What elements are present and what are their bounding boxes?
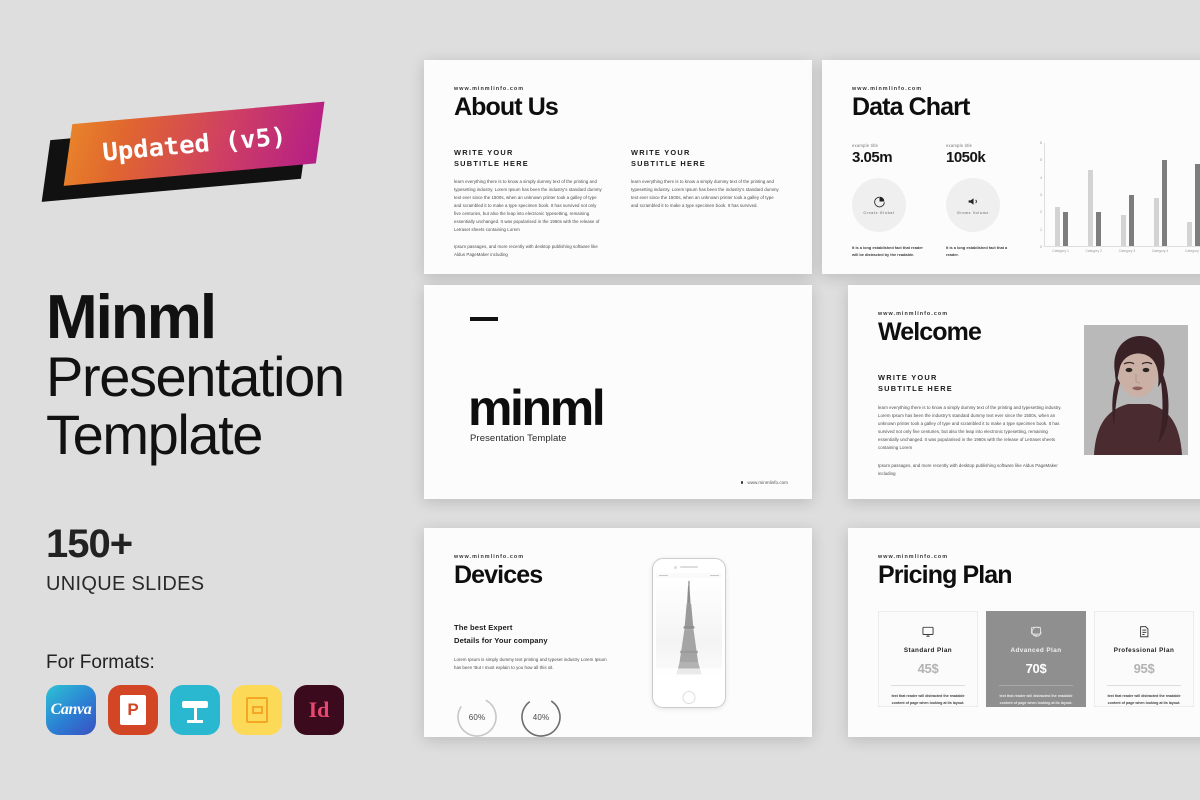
slide-title: About Us	[454, 94, 782, 121]
plan-price: 70$	[1026, 661, 1047, 676]
bar	[1129, 195, 1135, 247]
stat-value: 3.05m	[852, 149, 924, 166]
pricing-card-standard[interactable]: Standard Plan 45$ text that reader will …	[878, 611, 978, 707]
body-paragraph-tail: Ipsum passages, and more recently with d…	[454, 243, 604, 259]
logo-subtitle: Presentation Template	[470, 433, 566, 444]
chat-icon	[1029, 625, 1043, 638]
plan-name: Advanced Plan	[1011, 647, 1062, 654]
dash-accent	[470, 317, 498, 321]
title-line-2: Presentation	[46, 348, 426, 406]
phone-mockup	[652, 558, 726, 708]
pricing-card-advanced[interactable]: Advanced Plan 70$ text that reader will …	[986, 611, 1086, 707]
slide-title: Devices	[454, 562, 634, 589]
stat-card-1: example title 3.05m Create Global It is …	[852, 143, 924, 263]
divider	[999, 685, 1073, 686]
chart-x-tick: Category 2	[1085, 249, 1102, 253]
chart-y-tick: 1	[1040, 228, 1042, 232]
phone-camera	[674, 566, 677, 569]
badge-label: Updated (v5)	[101, 121, 287, 166]
portrait-photo	[1084, 325, 1188, 455]
donut-label: 60%	[469, 713, 486, 722]
slide-title-minml[interactable]: minml Presentation Template www.minmlinf…	[424, 285, 812, 499]
stat-icon-circle: Grows Volume	[946, 178, 1000, 232]
subtitle-heading: WRITE YOUR SUBTITLE HERE	[631, 147, 781, 169]
donut-chart-60: 60%	[454, 694, 500, 737]
phone-screen	[656, 573, 722, 690]
phone-speaker	[680, 566, 698, 568]
about-column-right: WRITE YOUR SUBTITLE HERE learn everythin…	[631, 147, 781, 260]
bar-group	[1088, 143, 1102, 246]
pricing-card-group: Standard Plan 45$ text that reader will …	[878, 611, 1200, 707]
bar-group	[1055, 143, 1069, 246]
left-info-panel: Updated (v5) Minml Presentation Template…	[46, 0, 426, 800]
slides-icon	[246, 697, 268, 723]
stat-icon-circle: Create Global	[852, 178, 906, 232]
slide-welcome[interactable]: www.minmlinfo.com Welcome WRITE YOUR SUB…	[848, 285, 1200, 499]
chart-y-tick: 3	[1040, 193, 1042, 197]
google-slides-icon	[232, 685, 282, 735]
plan-name: Professional Plan	[1114, 647, 1175, 654]
updated-badge: Updated (v5)	[46, 118, 346, 228]
poster-canvas: Updated (v5) Minml Presentation Template…	[0, 0, 1200, 800]
title-line-1: Minml	[46, 288, 426, 348]
slide-url: www.minmlinfo.com	[852, 86, 1200, 92]
slide-count-stat: 150+ UNIQUE SLIDES	[46, 524, 204, 596]
chart-y-axis: 6543210	[1032, 143, 1044, 247]
stat-group: example title 3.05m Create Global It is …	[852, 143, 1018, 263]
plan-note: text that reader will distracted the rea…	[889, 693, 967, 706]
bar	[1088, 170, 1094, 246]
slide-url: www.minmlinfo.com	[454, 86, 782, 92]
bar	[1121, 215, 1127, 246]
stat-caption: example title	[946, 143, 1018, 148]
slide-title: Welcome	[878, 319, 1068, 346]
bar	[1162, 160, 1168, 246]
indesign-icon: Id	[294, 685, 344, 735]
eiffel-tower-photo	[656, 578, 722, 690]
slide-count-label: UNIQUE SLIDES	[46, 573, 204, 596]
divider	[1107, 685, 1181, 686]
chart-y-tick: 2	[1040, 210, 1042, 214]
bar-chart: 6543210 Category 1Category 2Category 3Ca…	[1032, 143, 1200, 263]
phone-home-button[interactable]	[683, 691, 696, 704]
stat-icon-label: Grows Volume	[957, 211, 989, 215]
body-paragraph: Lorem Ipsum is simply dummy text printin…	[454, 656, 614, 672]
slide-url: www.minmlinfo.com	[878, 554, 1200, 560]
subtitle-heading: WRITE YOUR SUBTITLE HERE	[878, 372, 1068, 394]
plan-note: text that reader will distracted the rea…	[997, 693, 1075, 706]
body-paragraph: learn everything there is to know a simp…	[454, 178, 604, 234]
bar-group	[1121, 143, 1135, 246]
slide-pricing-plan[interactable]: www.minmlinfo.com Pricing Plan Standard …	[848, 528, 1200, 737]
plan-price: 95$	[1134, 661, 1155, 676]
bar	[1055, 207, 1061, 246]
chart-y-tick: 4	[1040, 176, 1042, 180]
slide-url: www.minmlinfo.com	[741, 480, 788, 485]
canva-glyph: Canva	[51, 701, 92, 719]
body-paragraph: learn everything there is to know a simp…	[631, 178, 781, 210]
powerpoint-glyph: P	[127, 700, 138, 720]
bar-group	[1187, 143, 1200, 246]
stat-icon-label: Create Global	[863, 211, 894, 215]
monitor-icon	[921, 625, 935, 638]
chart-x-tick: Category 5	[1185, 249, 1200, 253]
canva-icon: Canva	[46, 685, 96, 735]
stat-value: 1050k	[946, 149, 1018, 166]
body-paragraph: learn everything there is to know a simp…	[878, 404, 1068, 452]
bar	[1187, 222, 1193, 246]
podium-icon	[182, 697, 208, 723]
chart-y-tick: 0	[1040, 245, 1042, 249]
slide-count-number: 150+	[46, 524, 204, 564]
plan-note: text that reader will distracted the rea…	[1105, 693, 1183, 706]
slide-url: www.minmlinfo.com	[454, 554, 634, 560]
donut-chart-40: 40%	[518, 694, 564, 737]
donut-label: 40%	[533, 713, 550, 722]
bar-group	[1154, 143, 1168, 246]
pie-chart-icon	[873, 195, 886, 208]
chart-x-tick: Category 1	[1052, 249, 1069, 253]
lead-heading: The best Expert Details for Your company	[454, 622, 634, 647]
keynote-icon	[170, 685, 220, 735]
slide-data-chart[interactable]: www.minmlinfo.com Data Chart example tit…	[822, 60, 1200, 274]
plan-name: Standard Plan	[904, 647, 952, 654]
formats-row: Canva P Id	[46, 685, 344, 735]
chart-x-tick: Category 3	[1119, 249, 1136, 253]
slide-about-us[interactable]: www.minmlinfo.com About Us WRITE YOUR SU…	[424, 60, 812, 274]
page-title: Minml Presentation Template	[46, 288, 426, 465]
divider	[891, 685, 965, 686]
donut-group: 60% 40%	[454, 694, 634, 737]
chart-y-tick: 5	[1040, 158, 1042, 162]
bar	[1096, 212, 1102, 246]
slide-url-text: www.minmlinfo.com	[747, 480, 788, 485]
slide-title: Data Chart	[852, 94, 1200, 121]
document-icon	[1137, 625, 1151, 638]
powerpoint-icon: P	[108, 685, 158, 735]
volume-icon	[967, 195, 980, 208]
stat-note: It is a long established fact that a rea…	[946, 245, 1018, 259]
slide-title: Pricing Plan	[878, 562, 1200, 589]
chart-y-tick: 6	[1040, 141, 1042, 145]
bar	[1063, 212, 1069, 246]
stat-note: It is a long established fact that reade…	[852, 245, 924, 259]
title-line-3: Template	[46, 406, 426, 464]
chart-plot-area	[1044, 143, 1200, 247]
logo-wordmark: minml	[468, 383, 603, 433]
pricing-card-professional[interactable]: Professional Plan 95$ text that reader w…	[1094, 611, 1194, 707]
stat-card-2: example title 1050k Grows Volume It is a…	[946, 143, 1018, 263]
plan-price: 45$	[918, 661, 939, 676]
slide-devices[interactable]: www.minmlinfo.com Devices The best Exper…	[424, 528, 812, 737]
indesign-glyph: Id	[309, 697, 330, 723]
bar	[1154, 198, 1160, 246]
chart-x-tick: Category 4	[1152, 249, 1169, 253]
chart-x-labels: Category 1Category 2Category 3Category 4…	[1044, 249, 1200, 253]
powerpoint-glyph-box: P	[120, 695, 146, 725]
body-paragraph-tail: Ipsum passages, and more recently with d…	[878, 462, 1068, 478]
bullet-dot	[741, 481, 744, 484]
about-column-left: WRITE YOUR SUBTITLE HERE learn everythin…	[454, 147, 604, 260]
slide-url: www.minmlinfo.com	[878, 311, 1068, 317]
stat-caption: example title	[852, 143, 924, 148]
bar	[1195, 164, 1200, 246]
formats-label: For Formats:	[46, 652, 155, 674]
subtitle-heading: WRITE YOUR SUBTITLE HERE	[454, 147, 604, 169]
